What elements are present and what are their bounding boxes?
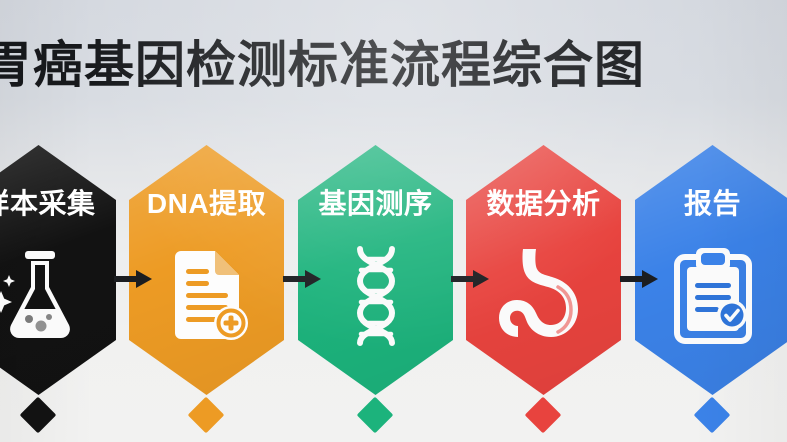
flow-arrow-1 — [114, 268, 154, 290]
clipboard-check-icon — [665, 243, 761, 347]
flow-arrow-3 — [451, 268, 491, 290]
document-plus-icon — [159, 243, 255, 347]
page-title: 胃癌基因检测标准流程综合图 — [0, 34, 622, 96]
flow-step-label-dna-extraction: DNA提取 — [129, 187, 284, 221]
step-marker-dna-extraction — [188, 397, 225, 434]
step-marker-sample-collection — [20, 397, 57, 434]
flask-icon — [0, 243, 87, 347]
flow-step-label-gene-sequencing: 基因测序 — [298, 187, 453, 221]
stomach-icon — [496, 243, 592, 347]
flow-arrow-4 — [620, 268, 660, 290]
step-marker-gene-sequencing — [357, 397, 394, 434]
flow-step-sample-collection[interactable]: 样本采集 — [0, 145, 116, 395]
step-marker-data-analysis — [525, 397, 562, 434]
infographic-canvas: 胃癌基因检测标准流程综合图 样本采集 — [0, 0, 787, 442]
dna-helix-icon — [328, 243, 424, 347]
flow-step-label-report: 报告 — [635, 187, 787, 221]
flow-arrow-2 — [283, 268, 323, 290]
step-marker-report — [694, 397, 731, 434]
flow-step-label-sample-collection: 样本采集 — [0, 187, 116, 221]
flow-step-label-data-analysis: 数据分析 — [466, 187, 621, 221]
